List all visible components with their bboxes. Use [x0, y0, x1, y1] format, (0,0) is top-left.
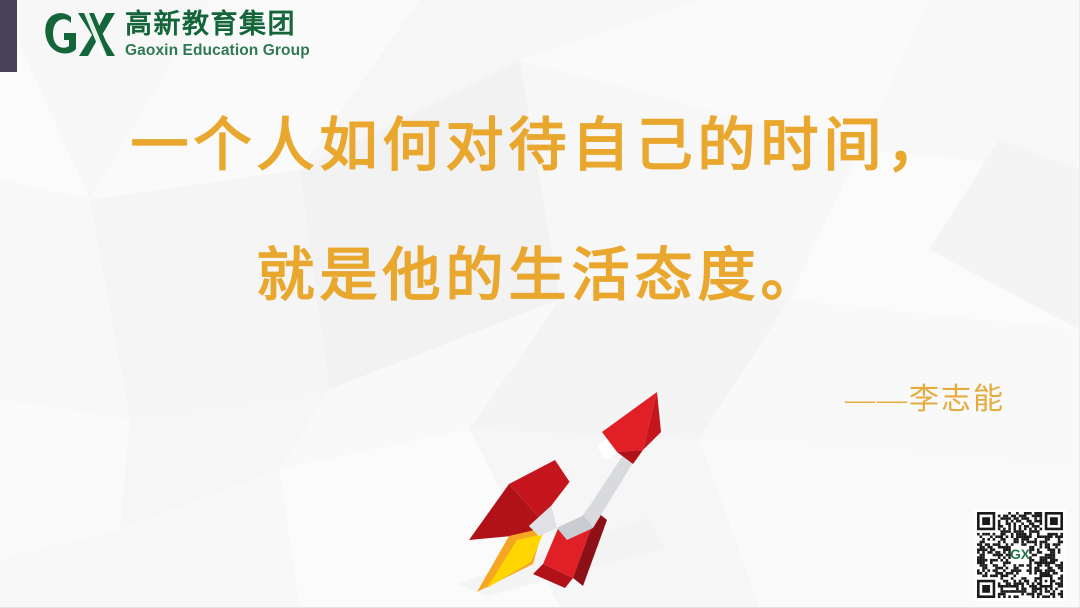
- logo-lockup: 高新教育集团 Gaoxin Education Group: [44, 9, 310, 61]
- quote-block: 一个人如何对待自己的时间， 就是他的生活态度。: [0, 112, 1080, 311]
- logo-name-cn: 高新教育集团: [125, 10, 310, 39]
- logo-name-en: Gaoxin Education Group: [125, 41, 310, 60]
- quote-attribution: ——李志能: [845, 374, 1005, 418]
- logo-text-block: 高新教育集团 Gaoxin Education Group: [125, 9, 310, 61]
- quote-line-1: 一个人如何对待自己的时间，: [0, 112, 1080, 180]
- accent-bar: [0, 0, 17, 72]
- quote-line-2: 就是他的生活态度。: [0, 242, 1080, 310]
- slide-canvas: 高新教育集团 Gaoxin Education Group 一个人如何对待自己的…: [0, 0, 1080, 608]
- rocket-illustration: [447, 388, 667, 598]
- qr-code-canvas: [977, 512, 1063, 598]
- qr-code[interactable]: [974, 509, 1066, 601]
- gx-monogram-icon: [44, 9, 116, 59]
